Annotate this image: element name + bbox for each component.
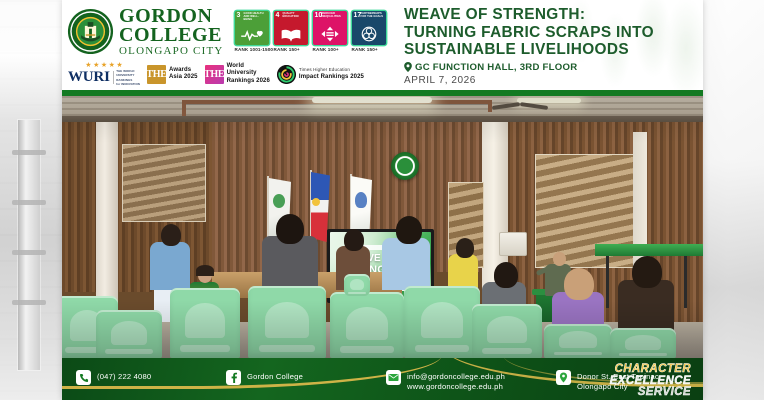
the-awards-asia-badge: THE Awards Asia 2025 [147,65,198,84]
photo-chair [344,274,370,296]
flag-emblem [273,194,285,208]
photo-audience-body [382,238,430,290]
sdg-rank-3: RANK 1001-1500 [235,47,269,52]
equal-arrows-icon [313,25,347,42]
contact-email-text: info@gordoncollege.edu.ph www.gordoncoll… [407,370,505,393]
the-wur-line3: Rankings 2026 [227,78,270,84]
gordon-college-seal-icon [67,8,114,55]
sdg-badge-group: 3 GOOD HEALTH AND WELL-BEING RANK 1001-1… [235,11,386,52]
sdg-number-3: 3 [237,12,241,19]
brand-row: GORDON COLLEGE OLONGAPO CITY 3 GOOD HEAL… [67,5,400,57]
photo-table-leg [606,256,609,308]
backdrop-rung [12,250,46,255]
star-icon: ★ [116,62,122,69]
photo-chair [248,286,326,358]
heartbeat-icon [235,25,269,42]
photo-window-blinds [122,144,206,222]
sdg-tile-4: 4 QUALITY EDUCATION [274,11,308,45]
sdg-rank-4: RANK 150+ [274,47,308,52]
contact-facebook-text: Gordon College [247,370,303,382]
sdg-rank-17: RANK 150+ [352,47,386,52]
contact-facebook[interactable]: Gordon College [226,370,386,385]
backdrop-rung [12,150,46,155]
circle-rings-icon [352,25,386,42]
institution-name-line1: GORDON [119,6,224,26]
page-title: WEAVE OF STRENGTH: TURNING FABRIC SCRAPS… [404,6,693,59]
sdg-tile-10: 10 REDUCED INEQUALITIES [313,11,347,45]
sdg-tile-17: 17 PARTNERSHIPS FOR THE GOALS [352,11,386,45]
wuri-sub-line4: for INNOVATION [116,82,140,86]
location-icon [556,370,571,385]
wuri-wordmark: WURI [68,70,110,85]
photo-chair [472,304,542,358]
header-branding: GORDON COLLEGE OLONGAPO CITY 3 GOOD HEAL… [62,0,400,90]
backdrop-rung [12,300,46,305]
photo-audience-head [632,256,662,288]
the-awards-line2: Asia 2025 [169,74,198,80]
event-poster: GORDON COLLEGE OLONGAPO CITY 3 GOOD HEAL… [62,0,703,400]
poster-footer: (047) 222 4080 Gordon College [62,358,703,400]
title-line-2: TURNING FABRIC SCRAPS INTO [404,24,693,42]
the-logo-icon: THE [205,65,224,84]
photo-audience-head [344,229,364,251]
contact-phone[interactable]: (047) 222 4080 [76,370,226,385]
photo-chair [330,292,404,358]
backdrop-right-strip [703,0,764,400]
photo-wall-seal [391,152,419,180]
institution-wordmark: GORDON COLLEGE OLONGAPO CITY [119,5,224,57]
wuri-lockup: WURI THE WORLD UNIVERSITY RANKINGS for I… [68,69,140,86]
the-impact-rankings-badge: Times Higher Education Impact Rankings 2… [277,65,364,84]
title-line-3: SUSTAINABLE LIVELIHOODS [404,41,693,59]
the-impact-text: Times Higher Education Impact Rankings 2… [299,67,364,82]
title-line-1: WEAVE OF STRENGTH: [404,6,693,24]
photo-audience-body [150,242,190,290]
photo-pipe-drop [182,100,186,116]
event-venue: GC FUNCTION HALL, 3RD FLOOR [404,62,693,73]
email-icon [386,370,401,385]
sdg-badge-17: 17 PARTNERSHIPS FOR THE GOALS [352,11,386,52]
photo-chair [610,328,676,358]
institution-name-line3: OLONGAPO CITY [119,46,224,57]
photo-chair [96,310,162,358]
wuri-subtext: THE WORLD UNIVERSITY RANKINGS for INNOVA… [116,69,140,86]
sdg-badge-4: 4 QUALITY EDUCATION RANK 150+ [274,11,308,52]
photo-chair [170,288,240,358]
motto-line3: SERVICE [610,387,691,399]
facebook-icon [226,370,241,385]
backdrop-rung [12,200,46,205]
the-awards-asia-text: Awards Asia 2025 [169,67,198,82]
photo-chair [544,324,612,358]
sdg-title-10: REDUCED INEQUALITIES [322,12,346,18]
backdrop-left-strip [0,0,62,400]
sdg-tile-3: 3 GOOD HEALTH AND WELL-BEING [235,11,269,45]
impact-spiral-icon [277,65,296,84]
sdg-number-4: 4 [276,12,280,19]
backdrop-rail [18,120,40,370]
photo-wall-unit [499,232,527,256]
flag-emblem [355,192,367,208]
sdg-title-4: QUALITY EDUCATION [283,12,307,18]
photo-speaker-head [553,252,566,266]
event-date: APRIL 7, 2026 [404,75,693,86]
the-wur-line1: World [227,63,244,69]
photo-audience-head [494,262,518,288]
sdg-rank-10: RANK 100+ [313,47,347,52]
poster-header: GORDON COLLEGE OLONGAPO CITY 3 GOOD HEAL… [62,0,703,90]
the-awards-line1: Awards [169,67,191,73]
wuri-divider [113,71,114,84]
the-wur-text: World University Rankings 2026 [227,63,270,85]
footer-contacts: (047) 222 4080 Gordon College [62,370,703,400]
event-venue-text: GC FUNCTION HALL, 3RD FLOOR [415,62,577,73]
the-logo-icon: THE [147,65,166,84]
sdg-badge-3: 3 GOOD HEALTH AND WELL-BEING RANK 1001-1… [235,11,269,52]
event-title-block: WEAVE OF STRENGTH: TURNING FABRIC SCRAPS… [400,0,703,90]
sdg-title-3: GOOD HEALTH AND WELL-BEING [244,12,268,22]
photo-presenter-hair [196,265,214,276]
the-world-university-rankings-badge: THE World University Rankings 2026 [205,63,270,85]
event-photo: WEAVE OF STRENGTH [62,96,703,358]
phone-icon [76,370,91,385]
photo-ceiling-fan [492,99,550,114]
the-impact-line1: Impact Rankings 2025 [299,74,364,80]
sdg-badge-10: 10 REDUCED INEQUALITIES [313,11,347,52]
photo-side-table [595,244,703,256]
photo-ceiling-light [312,97,432,103]
institution-name-line2: COLLEGE [119,25,224,45]
photo-chair [404,286,480,358]
contact-website: www.gordoncollege.edu.ph [407,382,503,391]
institution-motto: CHARACTER EXCELLENCE SERVICE [610,364,691,399]
photo-audience-head [161,224,181,246]
photo-audience-head [564,268,594,300]
flag-sun-icon [312,198,320,206]
photo-audience-body [262,236,318,292]
contact-email-address: info@gordoncollege.edu.ph [407,372,505,381]
accreditation-row: ★ ★ ★ ★ ★ WURI THE WORLD UNIVERSITY RANK… [67,62,400,86]
photo-audience-head [396,216,422,244]
location-pin-icon [404,62,412,72]
the-impact-thin: Times Higher Education [299,67,350,72]
the-wur-line2: University [227,70,257,76]
open-book-icon [274,25,308,42]
sdg-title-17: PARTNERSHIPS FOR THE GOALS [361,12,385,18]
photo-table-leg [684,256,687,308]
wuri-badge: ★ ★ ★ ★ ★ WURI THE WORLD UNIVERSITY RANK… [68,62,140,86]
contact-email[interactable]: info@gordoncollege.edu.ph www.gordoncoll… [386,370,556,393]
photo-audience-head [276,214,304,244]
motto-line1: CHARACTER [610,364,691,376]
photo-audience-head [456,238,474,258]
contact-phone-text: (047) 222 4080 [97,370,151,382]
